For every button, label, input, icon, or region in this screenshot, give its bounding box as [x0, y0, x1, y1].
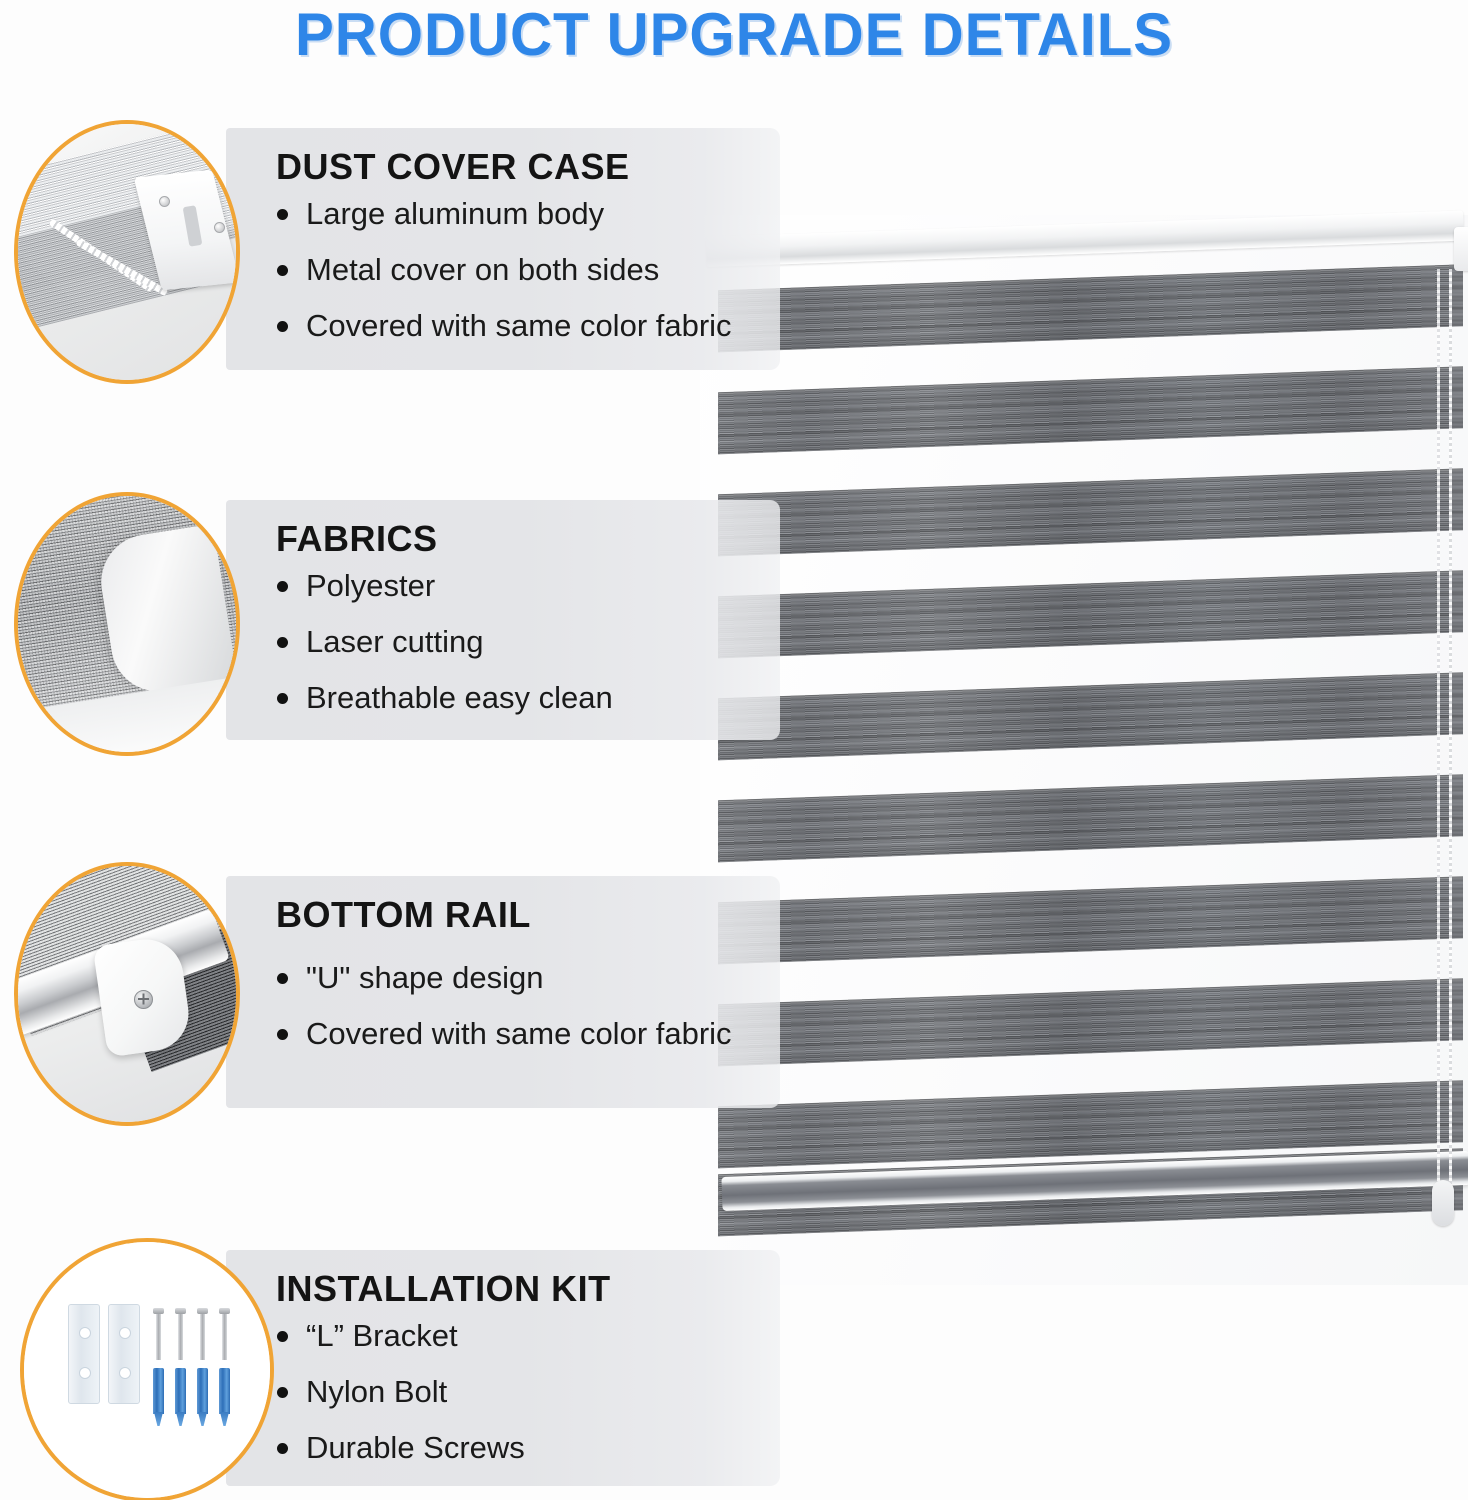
screw: [156, 1312, 161, 1360]
nylon-bolt: [153, 1368, 164, 1414]
screw: [178, 1312, 183, 1360]
nylon-bolt: [197, 1368, 208, 1414]
feature-bullet: Laser cutting: [276, 626, 613, 657]
blind-slats: [718, 255, 1463, 1245]
feature-bullet-list: "U" shape design Covered with same color…: [276, 962, 732, 1049]
blind-slat: [718, 978, 1463, 1067]
feature-title: DUST COVER CASE: [276, 146, 732, 188]
blind-slat: [718, 366, 1463, 455]
feature-bottom-rail: BOTTOM RAIL "U" shape design Covered wit…: [0, 862, 790, 1122]
installation-kit-parts: [68, 1304, 248, 1414]
nylon-bolt: [219, 1368, 230, 1414]
feature-bullet: Covered with same color fabric: [276, 1018, 732, 1049]
nylon-bolt: [175, 1368, 186, 1414]
blind-chain-tensioner: [1432, 1180, 1454, 1226]
screw: [200, 1312, 205, 1360]
blind-slat: [718, 672, 1463, 761]
feature-bullet: Covered with same color fabric: [276, 310, 732, 341]
blind-slat: [718, 774, 1463, 863]
feature-bullet: Large aluminum body: [276, 198, 732, 229]
feature-bullet-list: “L” Bracket Nylon Bolt Durable Screws: [276, 1320, 611, 1463]
bottom-rail-photo: [14, 862, 240, 1126]
blind-bead-chain-back: [1437, 269, 1440, 1199]
blind-slat: [718, 264, 1463, 353]
l-bracket: [108, 1304, 140, 1404]
blind-slat: [718, 876, 1463, 965]
blind-slat: [718, 570, 1463, 659]
feature-bullet: Durable Screws: [276, 1432, 611, 1463]
page-title: PRODUCT UPGRADE DETAILS: [22, 2, 1446, 68]
feature-installation-kit: INSTALLATION KIT “L” Bracket Nylon Bolt …: [0, 1236, 790, 1500]
feature-bullet: “L” Bracket: [276, 1320, 611, 1351]
blind-head-rail-endcap: [1454, 227, 1468, 271]
feature-fabrics: FABRICS Polyester Laser cutting Breathab…: [0, 492, 790, 752]
feature-bullet-list: Polyester Laser cutting Breathable easy …: [276, 570, 613, 713]
l-bracket: [68, 1304, 100, 1404]
feature-dust-cover-case: DUST COVER CASE Large aluminum body Meta…: [0, 120, 790, 380]
installation-kit-photo: [20, 1238, 274, 1500]
feature-bullet: Breathable easy clean: [276, 682, 613, 713]
feature-title: INSTALLATION KIT: [276, 1268, 611, 1310]
feature-title: BOTTOM RAIL: [276, 894, 732, 936]
fabrics-photo: [14, 492, 240, 756]
feature-bullet: "U" shape design: [276, 962, 732, 993]
blind-bead-chain: [1449, 269, 1452, 1199]
feature-bullet-list: Large aluminum body Metal cover on both …: [276, 198, 732, 341]
feature-bullet: Nylon Bolt: [276, 1376, 611, 1407]
infographic-page: PRODUCT UPGRADE DETAILS: [0, 0, 1468, 1500]
blind-slat: [718, 468, 1463, 557]
screw: [222, 1312, 227, 1360]
zebra-roller-blind-photo: [700, 215, 1468, 1285]
feature-bullet: Polyester: [276, 570, 613, 601]
dust-cover-case-photo: [14, 120, 240, 384]
feature-title: FABRICS: [276, 518, 613, 560]
feature-bullet: Metal cover on both sides: [276, 254, 732, 285]
